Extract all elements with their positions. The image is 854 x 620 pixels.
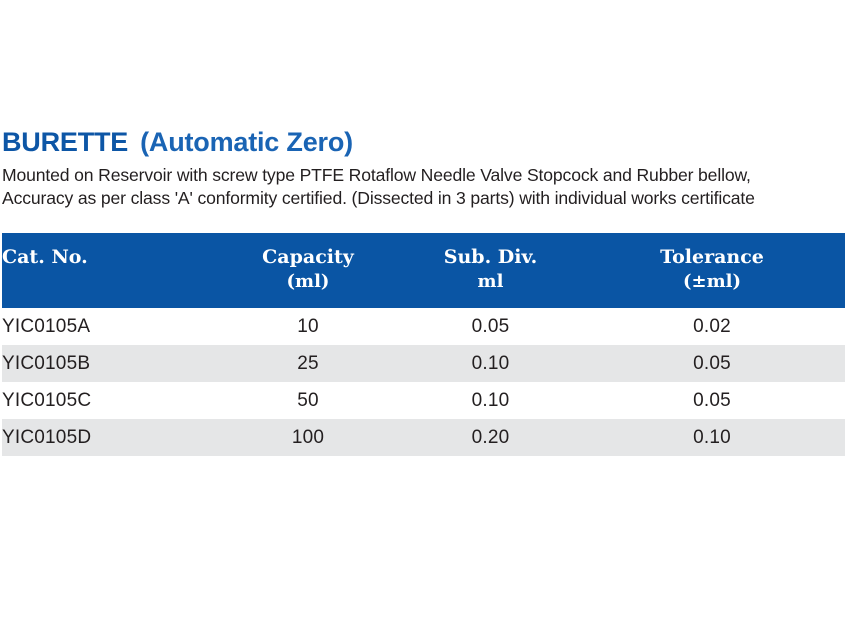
table-header-row: Cat. No. Capacity (ml) Sub. Div. ml Tole… [2,233,845,308]
cell-cat-no: YIC0105D [2,419,214,456]
cell-capacity: 100 [214,419,402,456]
cell-capacity: 10 [214,308,402,345]
column-header-sub-div: Sub. Div. ml [402,233,579,308]
cell-cat-no: YIC0105C [2,382,214,419]
column-header-cat-no: Cat. No. [2,233,214,308]
column-header-tolerance-unit: (±ml) [579,270,845,294]
column-header-capacity: Capacity (ml) [214,233,402,308]
cell-sub-div: 0.10 [402,382,579,419]
column-header-capacity-unit: (ml) [214,270,402,294]
table-row: YIC0105D 100 0.20 0.10 [2,419,845,456]
product-description-line-1: Mounted on Reservoir with screw type PTF… [0,164,854,187]
cell-tolerance: 0.05 [579,382,845,419]
product-spec-page: BURETTE(Automatic Zero) Mounted on Reser… [0,0,854,620]
cell-sub-div: 0.20 [402,419,579,456]
column-header-cat-no-label: Cat. No. [2,246,88,268]
table-row: YIC0105B 25 0.10 0.05 [2,345,845,382]
column-header-sub-div-label: Sub. Div. [444,246,538,268]
cell-tolerance: 0.05 [579,345,845,382]
product-title-main: BURETTE [2,127,128,157]
specification-table: Cat. No. Capacity (ml) Sub. Div. ml Tole… [2,233,845,456]
table-row: YIC0105C 50 0.10 0.05 [2,382,845,419]
cell-cat-no: YIC0105B [2,345,214,382]
table-body: YIC0105A 10 0.05 0.02 YIC0105B 25 0.10 0… [2,308,845,456]
cell-cat-no: YIC0105A [2,308,214,345]
column-header-sub-div-unit: ml [402,270,579,294]
cell-sub-div: 0.10 [402,345,579,382]
product-header-block: BURETTE(Automatic Zero) Mounted on Reser… [0,126,854,209]
cell-sub-div: 0.05 [402,308,579,345]
table-header: Cat. No. Capacity (ml) Sub. Div. ml Tole… [2,233,845,308]
cell-tolerance: 0.10 [579,419,845,456]
cell-capacity: 25 [214,345,402,382]
product-title: BURETTE(Automatic Zero) [0,126,854,158]
product-description-line-2: Accuracy as per class 'A' conformity cer… [0,187,854,210]
table-row: YIC0105A 10 0.05 0.02 [2,308,845,345]
column-header-capacity-label: Capacity [262,246,354,268]
cell-tolerance: 0.02 [579,308,845,345]
column-header-tolerance: Tolerance (±ml) [579,233,845,308]
product-title-subtitle: (Automatic Zero) [140,127,353,157]
column-header-tolerance-label: Tolerance [660,246,764,268]
cell-capacity: 50 [214,382,402,419]
